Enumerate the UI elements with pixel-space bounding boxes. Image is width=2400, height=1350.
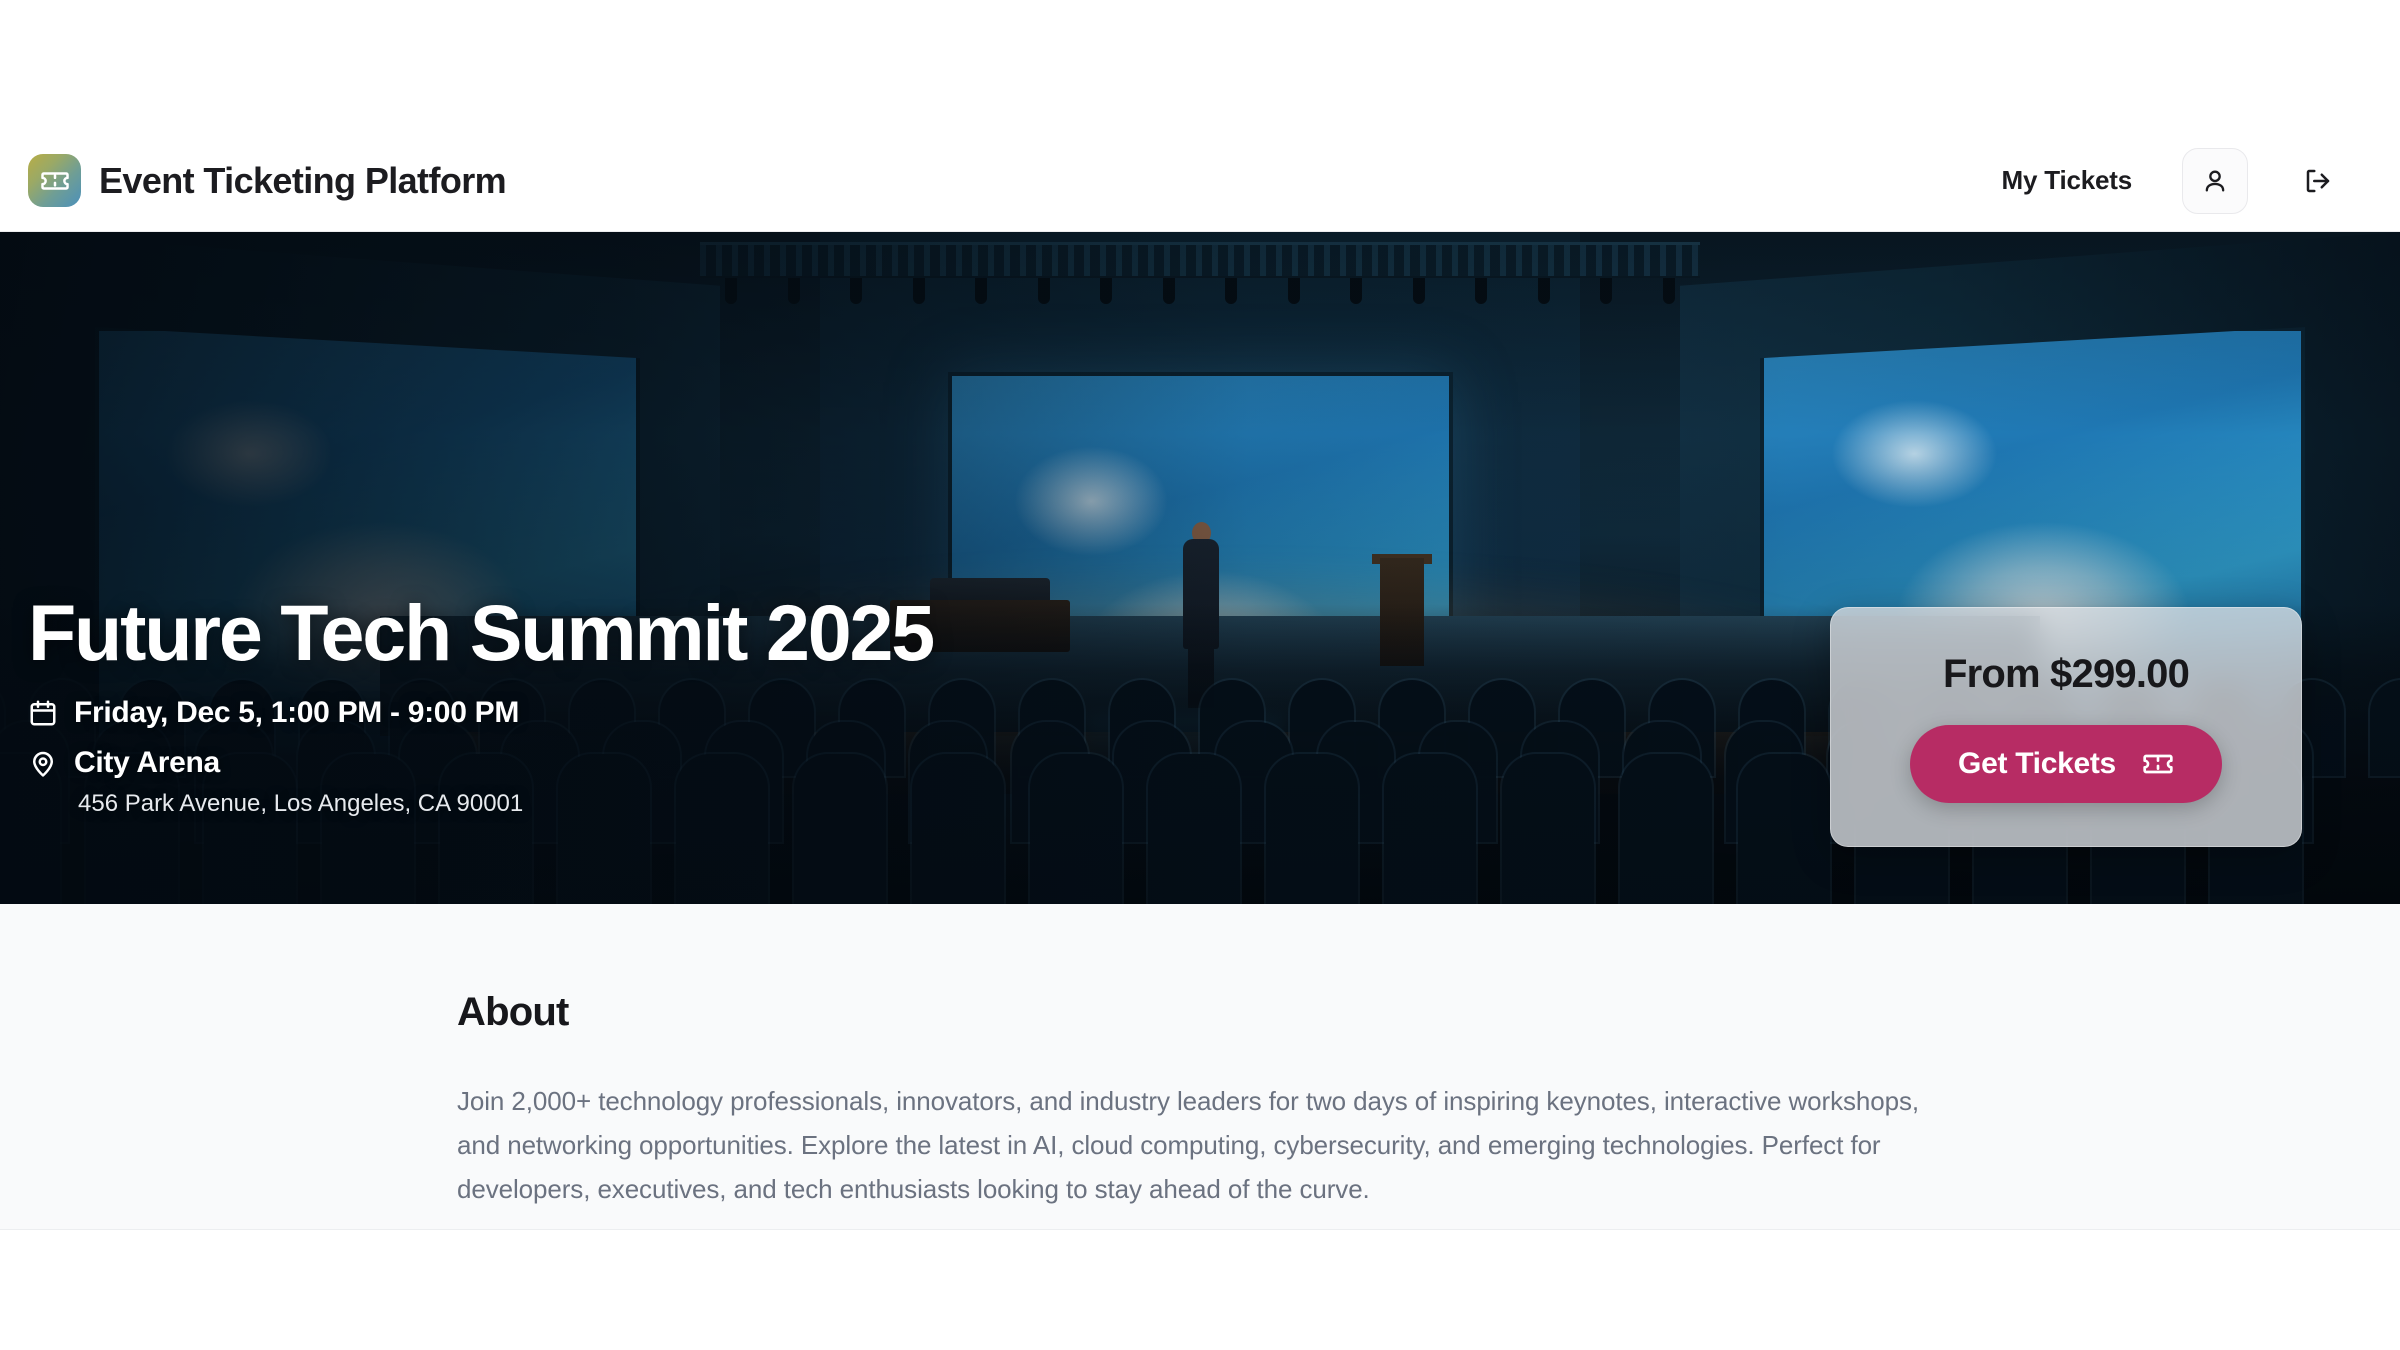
event-venue-row: City Arena — [28, 746, 933, 780]
calendar-icon — [28, 698, 58, 728]
about-body-text: Join 2,000+ technology professionals, in… — [457, 1079, 1947, 1211]
about-heading: About — [457, 990, 1947, 1035]
logout-icon — [2303, 166, 2333, 196]
nav-my-tickets[interactable]: My Tickets — [2002, 165, 2132, 196]
brand-title: Event Ticketing Platform — [99, 160, 506, 202]
venue-name: City Arena — [74, 746, 220, 780]
brand-home-link[interactable]: Event Ticketing Platform — [28, 154, 506, 207]
ticket-icon — [2142, 748, 2174, 780]
page-title: Future Tech Summit 2025 — [28, 593, 933, 674]
ticket-price-card: From $299.00 Get Tickets — [1830, 607, 2302, 847]
event-date-row: Friday, Dec 5, 1:00 PM - 9:00 PM — [28, 696, 933, 730]
site-header: Event Ticketing Platform My Tickets — [0, 130, 2400, 232]
hero-banner: Future Tech Summit 2025 Friday, Dec 5, 1… — [0, 232, 2400, 904]
about-section: About Join 2,000+ technology professiona… — [0, 904, 2400, 1230]
get-tickets-button[interactable]: Get Tickets — [1910, 725, 2222, 803]
header-actions: My Tickets — [2002, 148, 2372, 214]
hero-details: Future Tech Summit 2025 Friday, Dec 5, 1… — [28, 593, 933, 818]
price-from-label: From $299.00 — [1943, 652, 2189, 697]
venue-address: 456 Park Avenue, Los Angeles, CA 90001 — [78, 790, 933, 818]
logout-button[interactable] — [2290, 153, 2346, 209]
ticket-icon — [28, 154, 81, 207]
event-date-text: Friday, Dec 5, 1:00 PM - 9:00 PM — [74, 696, 519, 730]
map-pin-icon — [28, 748, 58, 778]
get-tickets-label: Get Tickets — [1958, 747, 2116, 781]
account-button[interactable] — [2182, 148, 2248, 214]
user-icon — [2201, 167, 2229, 195]
event-detail-page: Event Ticketing Platform My Tickets — [0, 0, 2400, 1350]
